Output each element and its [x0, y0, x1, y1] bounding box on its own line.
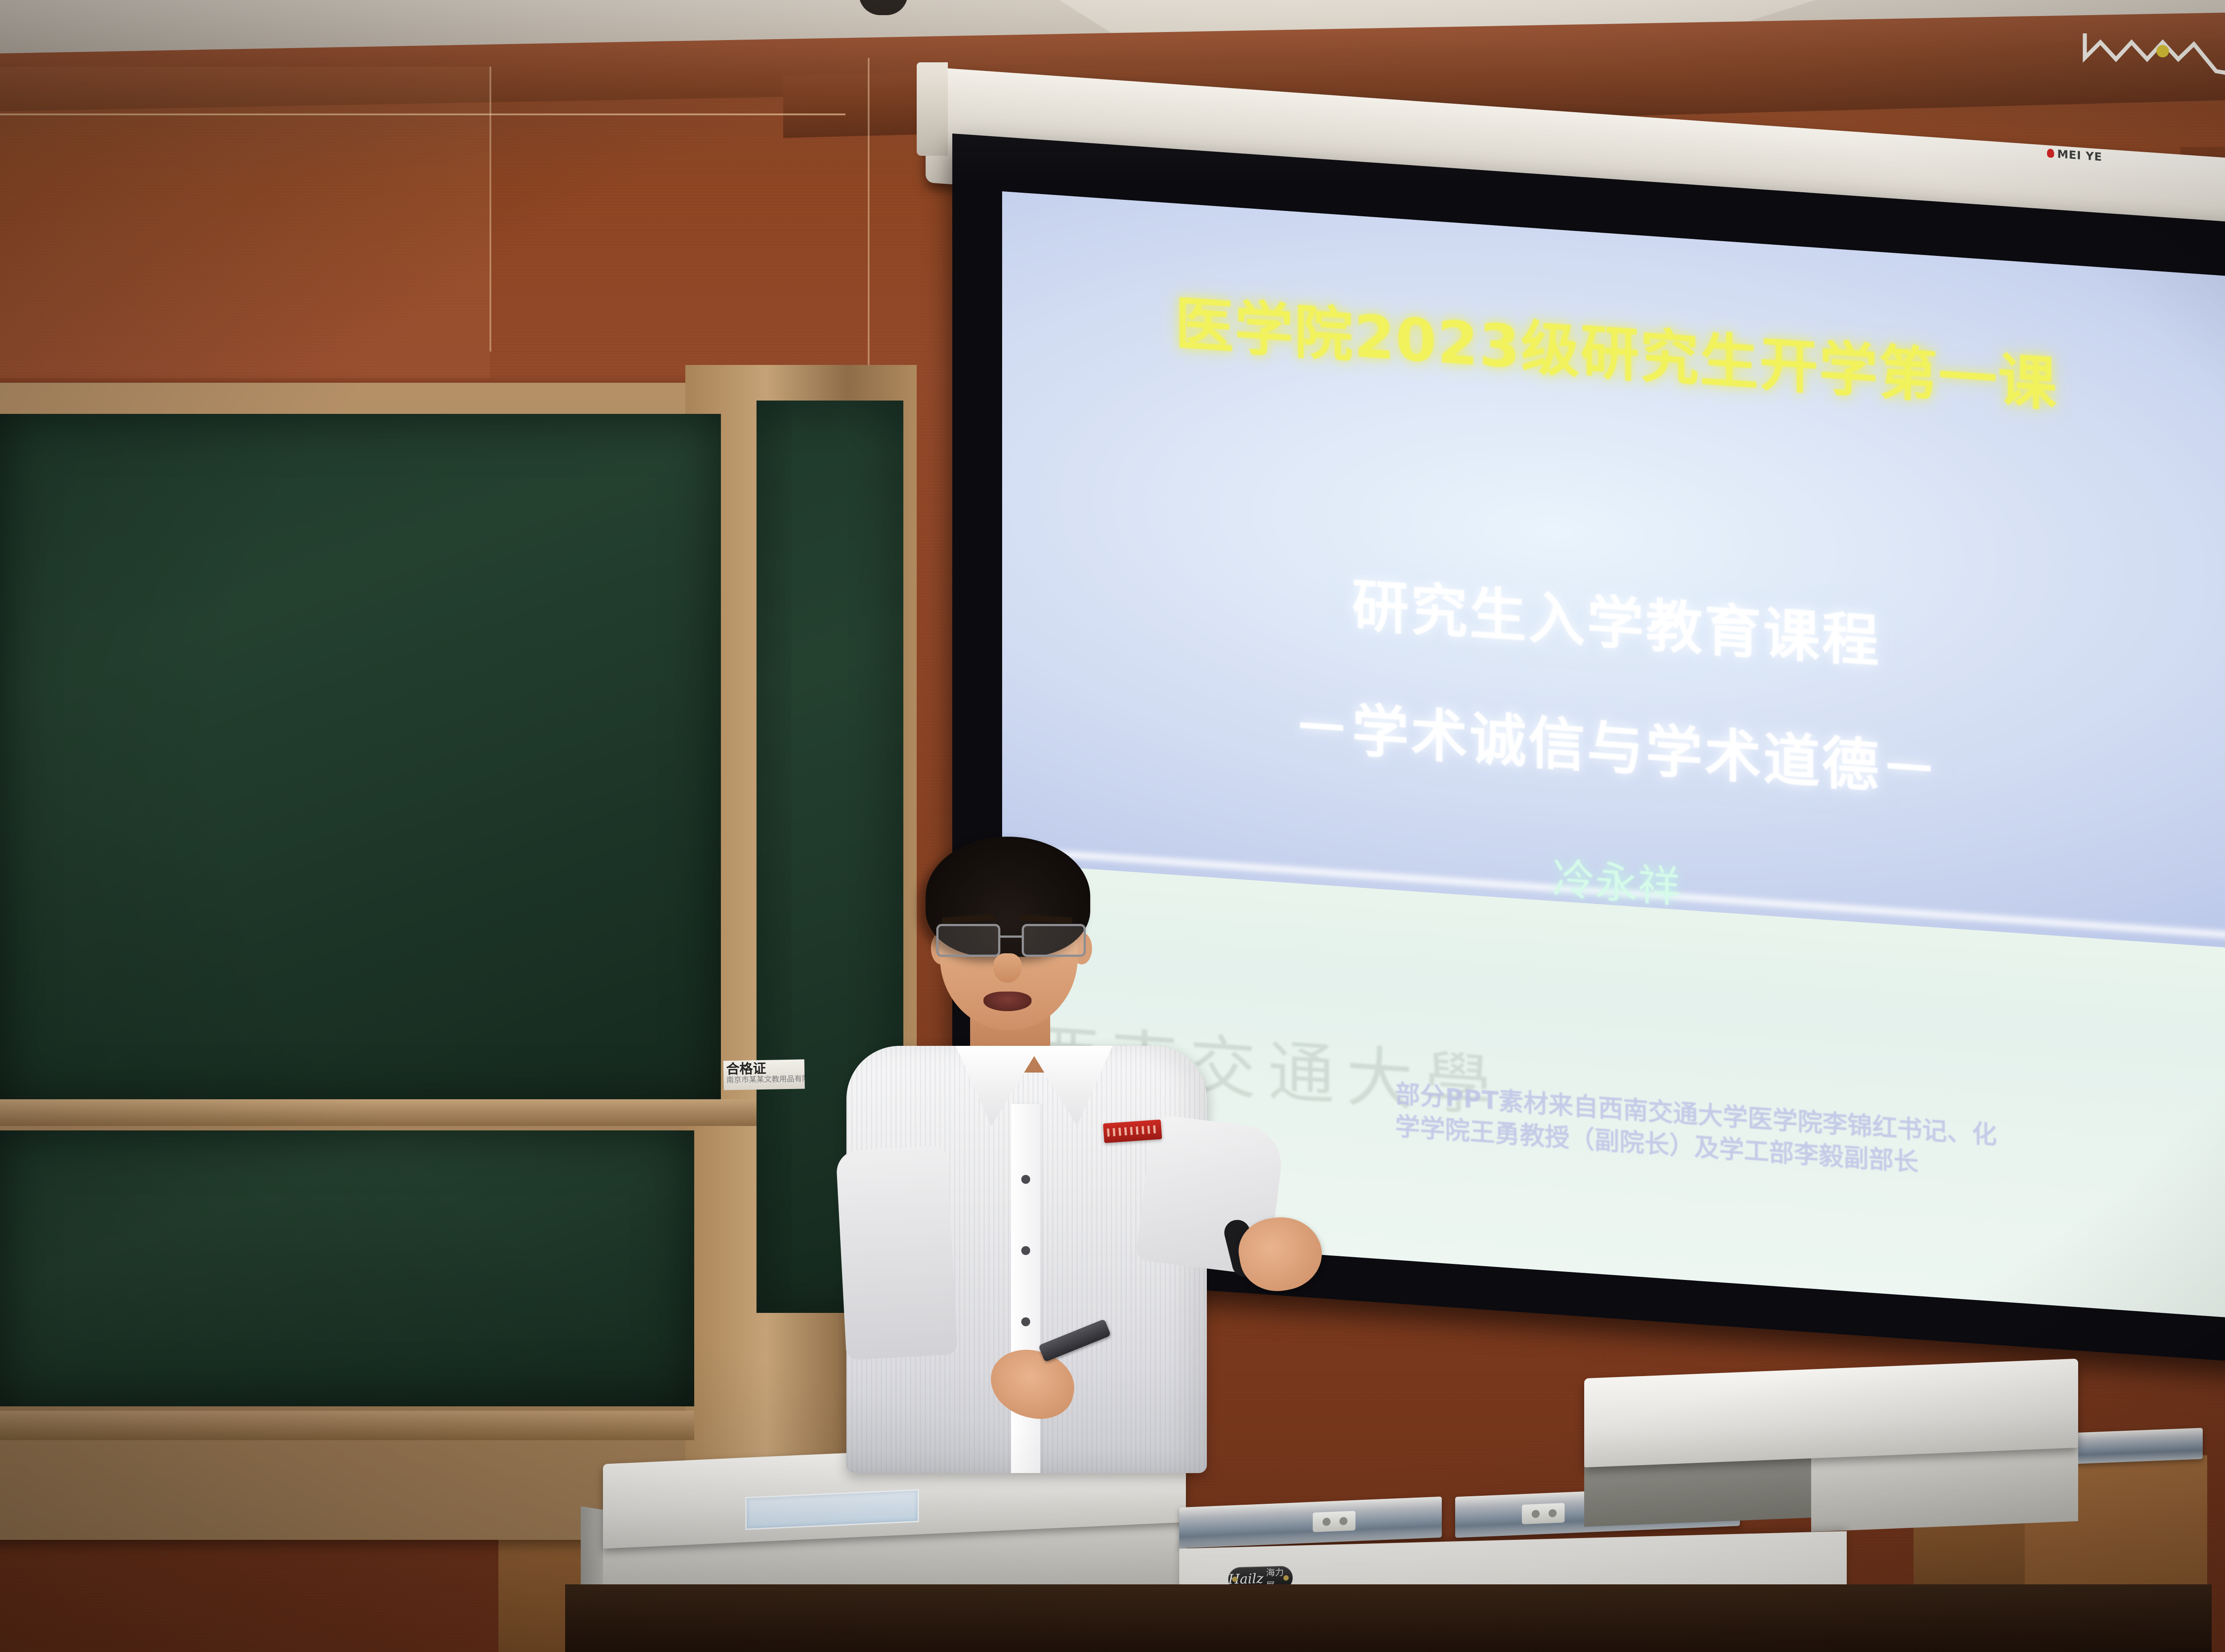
wall-seam-vertical — [489, 67, 491, 352]
presenter-name-badge — [1103, 1120, 1162, 1143]
sticker-maker: 南京市某某文教用品有限公司 — [726, 1075, 802, 1085]
brand-name: MEI YE — [2057, 147, 2102, 163]
brand-mark-icon — [2047, 149, 2054, 158]
floor-shadow-band — [565, 1584, 2212, 1652]
presenter-nose — [993, 953, 1022, 983]
blackboard-rail — [0, 1099, 756, 1126]
shirt-button — [1021, 1246, 1030, 1255]
presenter-left-arm — [836, 1146, 958, 1360]
blackboard-panel-left — [0, 414, 721, 1108]
presenter — [837, 837, 1282, 1469]
presenter-mouth — [983, 992, 1032, 1011]
shirt-button — [1021, 1317, 1030, 1326]
sticker-title: 合格证 — [726, 1061, 766, 1077]
shirt-button — [1021, 1175, 1030, 1184]
blackboard-certificate-sticker: 合格证 南京市某某文教用品有限公司 — [723, 1059, 805, 1090]
wall-seam-vertical — [868, 58, 870, 369]
housing-end-cap-left — [917, 62, 948, 156]
wall-seam-horizontal — [0, 113, 845, 115]
lectern-drawer-rail[interactable] — [1179, 1497, 1442, 1549]
lecture-hall-photo: 合格证 南京市某某文教用品有限公司 MEI YE 医学院2023级研究生开学第一… — [0, 0, 2225, 1652]
screen-hanger-bracket — [2083, 33, 2225, 91]
